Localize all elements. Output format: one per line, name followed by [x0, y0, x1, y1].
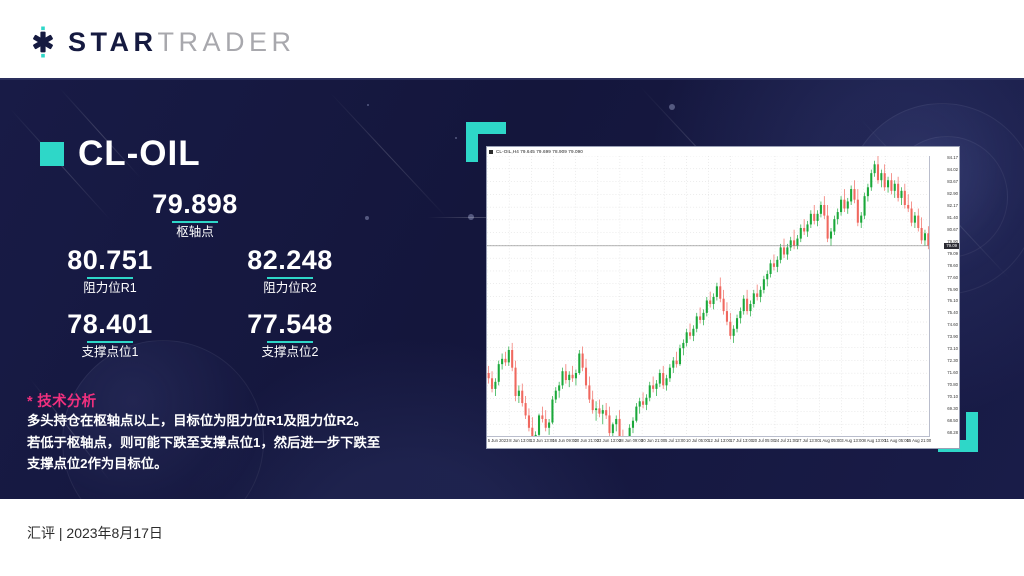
time-tick: 20 Jul 05:00 — [752, 439, 775, 443]
chart-title: CL-OIL,H4 79.645 79.699 78.909 79.090 — [496, 149, 583, 154]
page-header: STARTRADER — [0, 0, 1024, 78]
levels-grid: 80.751 阻力位R1 82.248 阻力位R2 78.401 支撑点位1 7… — [20, 246, 380, 374]
pivot-block: 79.898 枢轴点 — [40, 190, 350, 240]
price-tick: 69.30 — [947, 407, 958, 411]
slide-root: STARTRADER CL-OI — [0, 0, 1024, 576]
analysis-body: 多头持仓在枢轴点以上，目标位为阻力位R1及阻力位R2。 若低于枢轴点，则可能下跌… — [27, 410, 402, 475]
level-r1: 80.751 阻力位R1 — [20, 246, 200, 296]
price-chart[interactable]: CL-OIL,H4 79.645 79.699 78.909 79.090 84… — [486, 146, 960, 449]
decor-dot — [367, 104, 369, 106]
brand-logo: STARTRADER — [26, 25, 296, 59]
price-tick: 81.40 — [947, 216, 958, 220]
price-tick: 73.10 — [947, 347, 958, 351]
time-tick: 10 Jul 05:00 — [686, 439, 709, 443]
title-bullet-square — [40, 142, 64, 166]
instrument-symbol: CL-OIL — [78, 136, 201, 171]
pivot-value: 79.898 — [40, 190, 350, 218]
time-tick: 20 Jun 21:00 — [575, 439, 599, 443]
level-r2: 82.248 阻力位R2 — [200, 246, 380, 296]
instrument-title: CL-OIL — [40, 136, 201, 171]
time-tick: 30 Jun 21:00 — [641, 439, 665, 443]
underline-accent — [267, 277, 313, 279]
price-tick: 84.17 — [947, 156, 958, 160]
price-tick: 82.90 — [947, 192, 958, 196]
brand-name-bold: STAR — [68, 27, 158, 57]
price-tick: 75.40 — [947, 311, 958, 315]
time-tick: 23 Jun 13:00 — [597, 439, 621, 443]
current-price-tag: 79.09 — [944, 243, 959, 249]
price-tick: 74.60 — [947, 323, 958, 327]
time-tick: 3 Aug 13:00 — [841, 439, 863, 443]
chart-header-icon — [489, 150, 493, 154]
brand-name: STARTRADER — [68, 29, 296, 56]
price-tick: 79.09 — [947, 252, 958, 256]
time-tick: 5 Jun 2023 — [488, 439, 509, 443]
time-tick: 17 Jul 13:00 — [730, 439, 753, 443]
analysis-line-2: 若低于枢轴点，则可能下跌至支撑点位1，然后进一步下跌至 — [27, 432, 402, 454]
r2-label: 阻力位R2 — [200, 282, 380, 296]
analysis-line-3: 支撑点位2作为目标位。 — [27, 453, 402, 475]
time-tick: 12 Jul 13:00 — [708, 439, 731, 443]
chart-header: CL-OIL,H4 79.645 79.699 78.909 79.090 — [487, 147, 959, 156]
decor-dot — [365, 216, 369, 220]
s2-value: 77.548 — [200, 310, 380, 338]
r1-value: 80.751 — [20, 246, 200, 274]
time-tick: 8 Jun 13:00 — [509, 439, 531, 443]
price-tick: 82.17 — [947, 204, 958, 208]
star-asterisk-icon — [26, 25, 60, 59]
price-tick: 70.10 — [947, 395, 958, 399]
price-tick: 76.90 — [947, 288, 958, 292]
price-tick: 76.10 — [947, 299, 958, 303]
time-tick: 16 Jun 09:00 — [552, 439, 576, 443]
time-tick: 13 Jun 13:00 — [530, 439, 554, 443]
time-tick: 5 Jul 13:00 — [665, 439, 686, 443]
time-tick: 1 Aug 05:00 — [819, 439, 841, 443]
price-tick: 83.67 — [947, 180, 958, 184]
r1-label: 阻力位R1 — [20, 282, 200, 296]
price-tick: 84.02 — [947, 168, 958, 172]
price-tick: 70.80 — [947, 383, 958, 387]
time-axis: 5 Jun 20238 Jun 13:0013 Jun 13:0016 Jun … — [487, 436, 930, 448]
s1-label: 支撑点位1 — [20, 346, 200, 360]
price-tick: 68.28 — [947, 431, 958, 435]
candlestick-svg — [487, 156, 930, 437]
underline-accent — [87, 341, 133, 343]
band-divider — [0, 78, 1024, 80]
level-s1: 78.401 支撑点位1 — [20, 310, 200, 360]
time-tick: 11 Aug 05:00 — [885, 439, 909, 443]
page-footer: 汇评 | 2023年8月17日 — [0, 499, 1024, 576]
price-axis: 84.1784.0283.6782.9082.1781.4080.6779.90… — [929, 156, 959, 437]
content-band: CL-OIL 79.898 枢轴点 80.751 阻力位R1 82.248 阻力… — [0, 78, 1024, 499]
price-tick: 71.60 — [947, 371, 958, 375]
decor-dot — [669, 104, 675, 110]
price-tick: 72.30 — [947, 359, 958, 363]
level-s2: 77.548 支撑点位2 — [200, 310, 380, 360]
analysis-heading: * 技术分析 — [27, 390, 96, 411]
decor-dot — [455, 137, 457, 139]
time-tick: 24 Jul 21:00 — [775, 439, 798, 443]
price-tick: 77.60 — [947, 276, 958, 280]
footer-caption: 汇评 | 2023年8月17日 — [27, 523, 163, 543]
s2-label: 支撑点位2 — [200, 346, 380, 360]
chart-plot-area — [487, 156, 930, 437]
price-tick: 80.67 — [947, 228, 958, 232]
r2-value: 82.248 — [200, 246, 380, 274]
price-tick: 73.90 — [947, 335, 958, 339]
time-tick: 8 Aug 13:00 — [863, 439, 885, 443]
time-tick: 28 Jun 09:00 — [619, 439, 643, 443]
underline-accent — [172, 221, 218, 223]
time-tick: 15 Aug 21:00 — [907, 439, 932, 443]
price-tick: 78.60 — [947, 264, 958, 268]
pivot-label: 枢轴点 — [40, 226, 350, 240]
underline-accent — [87, 277, 133, 279]
time-tick: 27 Jul 13:00 — [797, 439, 820, 443]
s1-value: 78.401 — [20, 310, 200, 338]
underline-accent — [267, 341, 313, 343]
brand-name-light: TRADER — [158, 27, 296, 57]
analysis-line-1: 多头持仓在枢轴点以上，目标位为阻力位R1及阻力位R2。 — [27, 410, 402, 432]
price-tick: 68.50 — [947, 419, 958, 423]
